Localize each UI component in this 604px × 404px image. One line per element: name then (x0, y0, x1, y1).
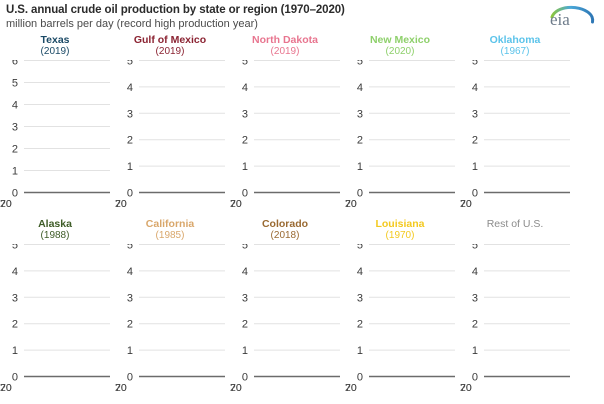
y-tick-label: 1 (127, 345, 133, 357)
panel-record-year: (2019) (230, 46, 340, 58)
y-tick-label: 5 (242, 244, 248, 252)
x-tick-label: 2020 (230, 382, 242, 394)
y-tick-label: 2 (127, 319, 133, 331)
panel-plot: 01234519702020 (230, 60, 346, 212)
y-tick-label: 5 (12, 244, 18, 252)
plot-svg: 01234519702020 (345, 60, 461, 212)
panel-texas: Texas(2019)012345619702020 (0, 34, 115, 58)
plot-svg: 01234519702020 (115, 244, 231, 396)
y-tick-label: 2 (472, 319, 478, 331)
x-tick-label: 2020 (230, 198, 242, 210)
y-tick-label: 3 (127, 108, 133, 120)
panel-gulf-of-mexico: Gulf of Mexico(2019)01234519702020 (115, 34, 230, 58)
y-tick-label: 4 (127, 266, 133, 278)
panel-record-year: (1985) (115, 230, 225, 242)
y-tick-label: 3 (12, 292, 18, 304)
y-tick-label: 4 (127, 82, 133, 94)
x-tick-label: 2020 (0, 382, 12, 394)
plot-svg: 012345619702020 (0, 60, 116, 212)
y-tick-label: 4 (12, 100, 18, 112)
y-tick-label: 0 (242, 188, 248, 200)
y-tick-label: 0 (357, 372, 363, 384)
panel-record-year: (2018) (230, 230, 340, 242)
y-tick-label: 6 (12, 60, 18, 68)
panel-plot: 01234519702020 (115, 244, 231, 396)
panel-title: Colorado (230, 218, 340, 230)
panel-louisiana: Louisiana(1970)01234519702020 (345, 218, 460, 242)
y-tick-label: 2 (242, 135, 248, 147)
y-tick-label: 5 (472, 244, 478, 252)
panel-title: Gulf of Mexico (115, 34, 225, 46)
eia-logo-icon: eia (544, 4, 596, 30)
y-tick-label: 0 (242, 372, 248, 384)
x-tick-label: 2020 (115, 382, 127, 394)
plot-svg: 01234519702020 (460, 244, 576, 396)
panel-plot: 01234519702020 (115, 60, 231, 212)
y-tick-label: 0 (127, 188, 133, 200)
y-tick-label: 0 (12, 372, 18, 384)
panel-title: Rest of U.S. (460, 218, 570, 230)
y-tick-label: 5 (357, 60, 363, 68)
y-tick-label: 2 (242, 319, 248, 331)
chart-header: U.S. annual crude oil production by stat… (6, 3, 345, 31)
panel-title: Louisiana (345, 218, 455, 230)
panel-title: California (115, 218, 225, 230)
y-tick-label: 3 (472, 292, 478, 304)
panel-record-year: (2019) (115, 46, 225, 58)
panel-plot: 01234519702020 (460, 244, 576, 396)
panel-title: Oklahoma (460, 34, 570, 46)
panel-new-mexico: New Mexico(2020)01234519702020 (345, 34, 460, 58)
panel-title: Texas (0, 34, 110, 46)
panel-plot: 012345619702020 (0, 60, 116, 212)
panel-alaska: Alaska(1988)01234519702020 (0, 218, 115, 242)
x-tick-label: 2020 (115, 198, 127, 210)
y-tick-label: 1 (357, 345, 363, 357)
plot-svg: 01234519702020 (0, 244, 116, 396)
small-multiples-grid: Texas(2019)012345619702020Gulf of Mexico… (0, 34, 604, 404)
y-tick-label: 5 (12, 78, 18, 90)
y-tick-label: 0 (12, 188, 18, 200)
y-tick-label: 1 (357, 161, 363, 173)
y-tick-label: 3 (357, 292, 363, 304)
x-tick-label: 2020 (345, 382, 357, 394)
x-tick-label: 2020 (460, 382, 472, 394)
y-tick-label: 5 (357, 244, 363, 252)
y-tick-label: 1 (242, 345, 248, 357)
panel-plot: 01234519702020 (230, 244, 346, 396)
y-tick-label: 3 (242, 292, 248, 304)
y-tick-label: 1 (12, 345, 18, 357)
y-tick-label: 1 (472, 161, 478, 173)
panel-rest-of-u-s: Rest of U.S.01234519702020 (460, 218, 575, 230)
y-tick-label: 3 (12, 122, 18, 134)
y-tick-label: 4 (472, 82, 478, 94)
y-tick-label: 5 (472, 60, 478, 68)
x-tick-label: 2020 (460, 198, 472, 210)
y-tick-label: 3 (242, 108, 248, 120)
panel-record-year: (1970) (345, 230, 455, 242)
y-tick-label: 4 (242, 266, 248, 278)
y-tick-label: 2 (357, 319, 363, 331)
y-tick-label: 0 (472, 188, 478, 200)
panel-plot: 01234519702020 (460, 60, 576, 212)
x-tick-label: 2020 (345, 198, 357, 210)
y-tick-label: 5 (127, 244, 133, 252)
plot-svg: 01234519702020 (115, 60, 231, 212)
y-tick-label: 3 (472, 108, 478, 120)
panel-title: New Mexico (345, 34, 455, 46)
y-tick-label: 1 (127, 161, 133, 173)
y-tick-label: 0 (472, 372, 478, 384)
panel-oklahoma: Oklahoma(1967)01234519702020 (460, 34, 575, 58)
panel-record-year: (1988) (0, 230, 110, 242)
plot-svg: 01234519702020 (230, 244, 346, 396)
y-tick-label: 5 (127, 60, 133, 68)
panel-plot: 01234519702020 (345, 60, 461, 212)
panel-title: Alaska (0, 218, 110, 230)
y-tick-label: 1 (12, 166, 18, 178)
y-tick-label: 2 (472, 135, 478, 147)
y-tick-label: 2 (12, 319, 18, 331)
plot-svg: 01234519702020 (230, 60, 346, 212)
panel-north-dakota: North Dakota(2019)01234519702020 (230, 34, 345, 58)
y-tick-label: 2 (357, 135, 363, 147)
y-tick-label: 2 (127, 135, 133, 147)
panel-plot: 01234519702020 (0, 244, 116, 396)
y-tick-label: 1 (242, 161, 248, 173)
panel-record-year: (2019) (0, 46, 110, 58)
y-tick-label: 4 (357, 266, 363, 278)
eia-logo: eia (544, 4, 596, 30)
panel-title: North Dakota (230, 34, 340, 46)
y-tick-label: 2 (12, 144, 18, 156)
y-tick-label: 4 (472, 266, 478, 278)
panel-colorado: Colorado(2018)01234519702020 (230, 218, 345, 242)
y-tick-label: 3 (357, 108, 363, 120)
y-tick-label: 0 (357, 188, 363, 200)
y-tick-label: 4 (357, 82, 363, 94)
page-subtitle: million barrels per day (record high pro… (6, 17, 345, 31)
chart-page: U.S. annual crude oil production by stat… (0, 0, 604, 404)
panel-california: California(1985)01234519702020 (115, 218, 230, 242)
y-tick-label: 0 (127, 372, 133, 384)
svg-text:eia: eia (550, 10, 570, 29)
x-tick-label: 2020 (0, 198, 12, 210)
plot-svg: 01234519702020 (460, 60, 576, 212)
panel-plot: 01234519702020 (345, 244, 461, 396)
y-tick-label: 4 (242, 82, 248, 94)
panel-record-year: (1967) (460, 46, 570, 58)
panel-record-year: (2020) (345, 46, 455, 58)
y-tick-label: 3 (127, 292, 133, 304)
y-tick-label: 1 (472, 345, 478, 357)
plot-svg: 01234519702020 (345, 244, 461, 396)
page-title: U.S. annual crude oil production by stat… (6, 3, 345, 17)
y-tick-label: 5 (242, 60, 248, 68)
y-tick-label: 4 (12, 266, 18, 278)
